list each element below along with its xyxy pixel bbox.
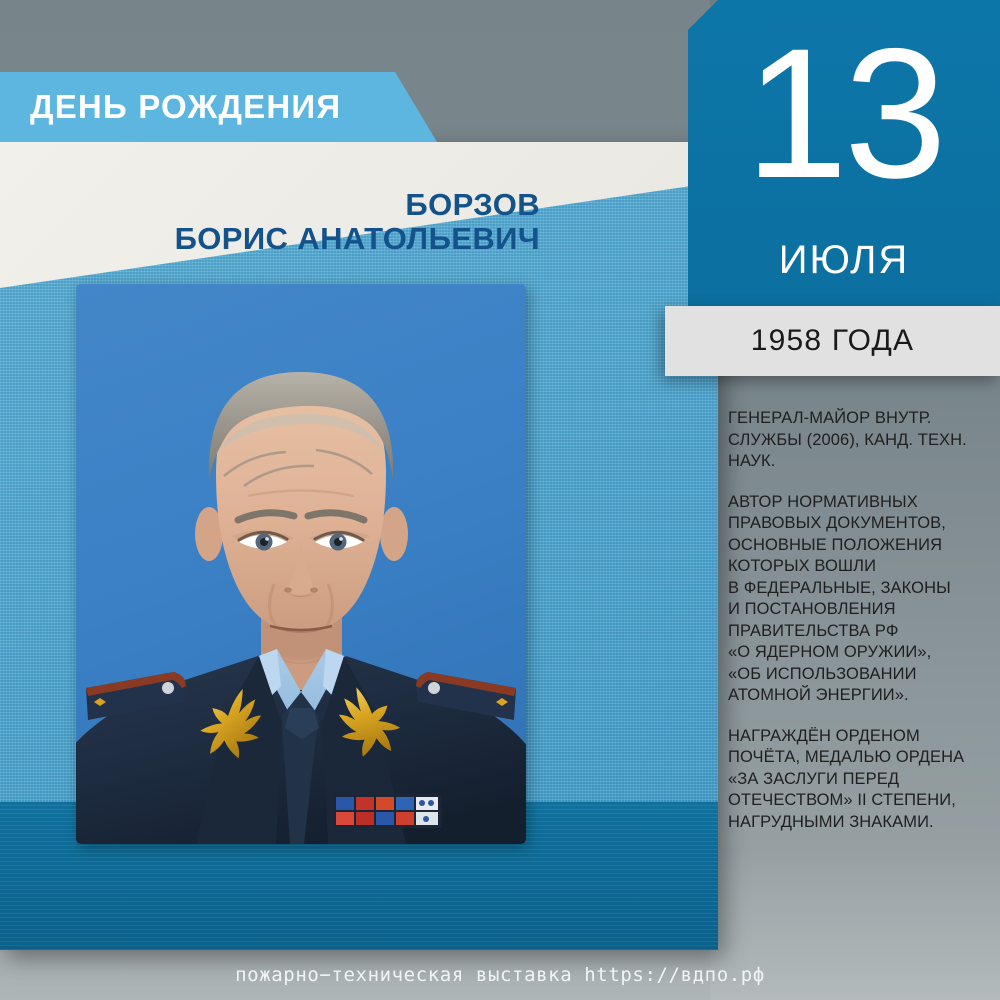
footer-text: пожарно−техническая выставка https://вдп… (235, 964, 765, 986)
portrait-illustration (76, 284, 526, 844)
medal-ribbon-bar-icon (334, 794, 442, 828)
biography-paragraph-1: ГЕНЕРАЛ-МАЙОР ВНУТР. СЛУЖБЫ (2006), КАНД… (728, 408, 984, 473)
birthday-poster: ДЕНЬ РОЖДЕНИЯ БОРЗОВ БОРИС АНАТОЛЬЕВИЧ (0, 0, 1000, 1000)
date-month: ИЮЛЯ (688, 238, 1000, 283)
portrait-photo (76, 284, 526, 844)
date-day: 13 (688, 22, 1000, 207)
year-label: 1958 ГОДА (751, 324, 914, 358)
person-last-name: БОРЗОВ (0, 188, 540, 222)
year-bar: 1958 ГОДА (665, 306, 1000, 376)
person-first-patronymic: БОРИС АНАТОЛЬЕВИЧ (0, 222, 540, 256)
biography-paragraph-2: АВТОР НОРМАТИВНЫХ ПРАВОВЫХ ДОКУМЕНТОВ, О… (728, 492, 984, 707)
birthday-banner-label: ДЕНЬ РОЖДЕНИЯ (30, 72, 430, 142)
biography-paragraph-3: НАГРАЖДЁН ОРДЕНОМ ПОЧЁТА, МЕДАЛЬЮ ОРДЕНА… (728, 726, 984, 834)
footer: пожарно−техническая выставка https://вдп… (0, 950, 1000, 1000)
person-name-block: БОРЗОВ БОРИС АНАТОЛЬЕВИЧ (0, 188, 540, 256)
biography-panel: ГЕНЕРАЛ-МАЙОР ВНУТР. СЛУЖБЫ (2006), КАНД… (710, 376, 1000, 946)
